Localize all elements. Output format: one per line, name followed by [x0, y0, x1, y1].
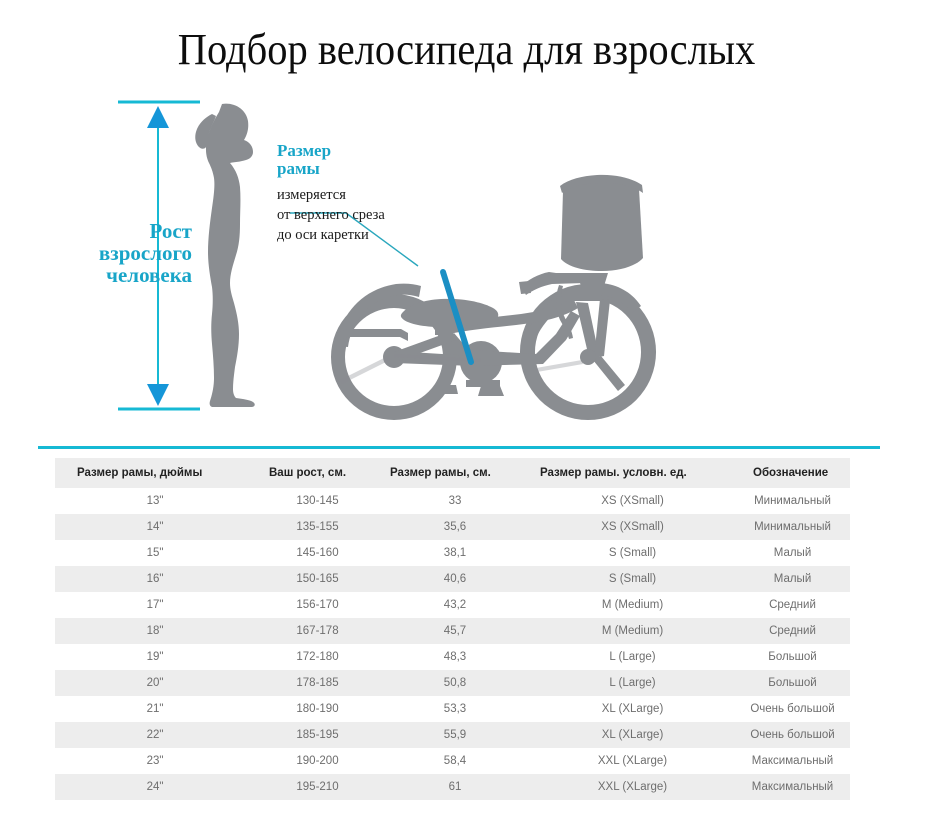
table-row: 19"172-18048,3L (Large)Большой	[55, 644, 850, 670]
table-cell: 50,8	[380, 670, 530, 696]
bike-size-chart-page: Подбор велосипеда для взрослых	[0, 0, 933, 831]
table-cell: XXL (XLarge)	[530, 748, 735, 774]
table-row: 20"178-18550,8L (Large)Большой	[55, 670, 850, 696]
table-cell: 45,7	[380, 618, 530, 644]
table-cell: 61	[380, 774, 530, 800]
frame-size-label-line-1: Размер	[277, 142, 331, 160]
table-row: 16"150-16540,6S (Small)Малый	[55, 566, 850, 592]
table-cell: 14"	[55, 514, 255, 540]
table-row: 18"167-17845,7M (Medium)Средний	[55, 618, 850, 644]
table-cell: 178-185	[255, 670, 380, 696]
frame-desc-line-1: измеряется	[277, 185, 385, 205]
table-cell: 48,3	[380, 644, 530, 670]
table-cell: Максимальный	[735, 774, 850, 800]
table-cell: 167-178	[255, 618, 380, 644]
column-header-frame-units: Размер рамы. условн. ед.	[530, 458, 735, 488]
table-cell: Минимальный	[735, 514, 850, 540]
table-cell: XL (XLarge)	[530, 722, 735, 748]
table-cell: L (Large)	[530, 644, 735, 670]
table-cell: Очень большой	[735, 722, 850, 748]
table-cell: 38,1	[380, 540, 530, 566]
table-cell: S (Small)	[530, 540, 735, 566]
column-header-designation: Обозначение	[735, 458, 850, 488]
table-cell: XL (XLarge)	[530, 696, 735, 722]
table-cell: 40,6	[380, 566, 530, 592]
table-cell: 172-180	[255, 644, 380, 670]
table-cell: 22"	[55, 722, 255, 748]
table-cell: 17"	[55, 592, 255, 618]
table-cell: 24"	[55, 774, 255, 800]
column-header-frame-cm: Размер рамы, см.	[380, 458, 530, 488]
table-cell: Минимальный	[735, 488, 850, 514]
table-row: 13"130-14533XS (XSmall)Минимальный	[55, 488, 850, 514]
table-cell: 16"	[55, 566, 255, 592]
table-cell: 20"	[55, 670, 255, 696]
table-cell: Малый	[735, 540, 850, 566]
table-cell: Средний	[735, 592, 850, 618]
size-table-wrap: Размер рамы, дюймы Ваш рост, см. Размер …	[55, 458, 850, 800]
table-row: 22"185-19555,9XL (XLarge)Очень большой	[55, 722, 850, 748]
table-cell: 58,4	[380, 748, 530, 774]
size-table-head: Размер рамы, дюймы Ваш рост, см. Размер …	[55, 458, 850, 488]
table-cell: 190-200	[255, 748, 380, 774]
table-cell: 185-195	[255, 722, 380, 748]
table-cell: Средний	[735, 618, 850, 644]
frame-size-label: Размер рамы	[277, 142, 331, 177]
table-cell: 55,9	[380, 722, 530, 748]
column-header-your-height: Ваш рост, см.	[255, 458, 380, 488]
illustration-panel: Рост взрослого человека Размер рамы изме…	[0, 90, 933, 435]
table-cell: 33	[380, 488, 530, 514]
height-label-line-1: Рост	[52, 221, 192, 243]
table-cell: S (Small)	[530, 566, 735, 592]
frame-desc-line-2: от верхнего среза	[277, 205, 385, 225]
table-cell: 156-170	[255, 592, 380, 618]
table-cell: 135-155	[255, 514, 380, 540]
table-cell: Очень большой	[735, 696, 850, 722]
table-cell: 23"	[55, 748, 255, 774]
table-cell: 195-210	[255, 774, 380, 800]
table-cell: 15"	[55, 540, 255, 566]
table-row: 23"190-20058,4XXL (XLarge)Максимальный	[55, 748, 850, 774]
size-table-body: 13"130-14533XS (XSmall)Минимальный14"135…	[55, 488, 850, 800]
table-cell: 21"	[55, 696, 255, 722]
table-cell: 13"	[55, 488, 255, 514]
bicycle-silhouette-icon	[331, 272, 656, 420]
table-cell: 43,2	[380, 592, 530, 618]
table-cell: Максимальный	[735, 748, 850, 774]
table-header-row: Размер рамы, дюймы Ваш рост, см. Размер …	[55, 458, 850, 488]
table-cell: Малый	[735, 566, 850, 592]
table-cell: 180-190	[255, 696, 380, 722]
height-label: Рост взрослого человека	[52, 221, 192, 286]
section-divider	[38, 446, 880, 449]
woman-silhouette-icon	[195, 104, 254, 407]
table-cell: Большой	[735, 670, 850, 696]
table-cell: 145-160	[255, 540, 380, 566]
table-cell: XS (XSmall)	[530, 488, 735, 514]
frame-desc-line-3: до оси каретки	[277, 225, 385, 245]
table-cell: Большой	[735, 644, 850, 670]
frame-size-description: измеряется от верхнего среза до оси каре…	[277, 185, 385, 245]
table-cell: M (Medium)	[530, 618, 735, 644]
table-row: 15"145-16038,1S (Small)Малый	[55, 540, 850, 566]
table-cell: 19"	[55, 644, 255, 670]
table-cell: 18"	[55, 618, 255, 644]
table-cell: L (Large)	[530, 670, 735, 696]
table-cell: 150-165	[255, 566, 380, 592]
page-title: Подбор велосипеда для взрослых	[37, 24, 895, 75]
size-table: Размер рамы, дюймы Ваш рост, см. Размер …	[55, 458, 850, 800]
table-cell: M (Medium)	[530, 592, 735, 618]
table-cell: 35,6	[380, 514, 530, 540]
table-cell: 53,3	[380, 696, 530, 722]
table-row: 17"156-17043,2M (Medium)Средний	[55, 592, 850, 618]
height-label-line-3: человека	[52, 265, 192, 287]
column-header-frame-inches: Размер рамы, дюймы	[55, 458, 255, 488]
table-row: 24"195-21061XXL (XLarge)Максимальный	[55, 774, 850, 800]
table-cell: XXL (XLarge)	[530, 774, 735, 800]
frame-size-label-line-2: рамы	[277, 160, 331, 178]
table-cell: 130-145	[255, 488, 380, 514]
table-row: 14"135-15535,6XS (XSmall)Минимальный	[55, 514, 850, 540]
table-cell: XS (XSmall)	[530, 514, 735, 540]
table-row: 21"180-19053,3XL (XLarge)Очень большой	[55, 696, 850, 722]
height-label-line-2: взрослого	[52, 243, 192, 265]
